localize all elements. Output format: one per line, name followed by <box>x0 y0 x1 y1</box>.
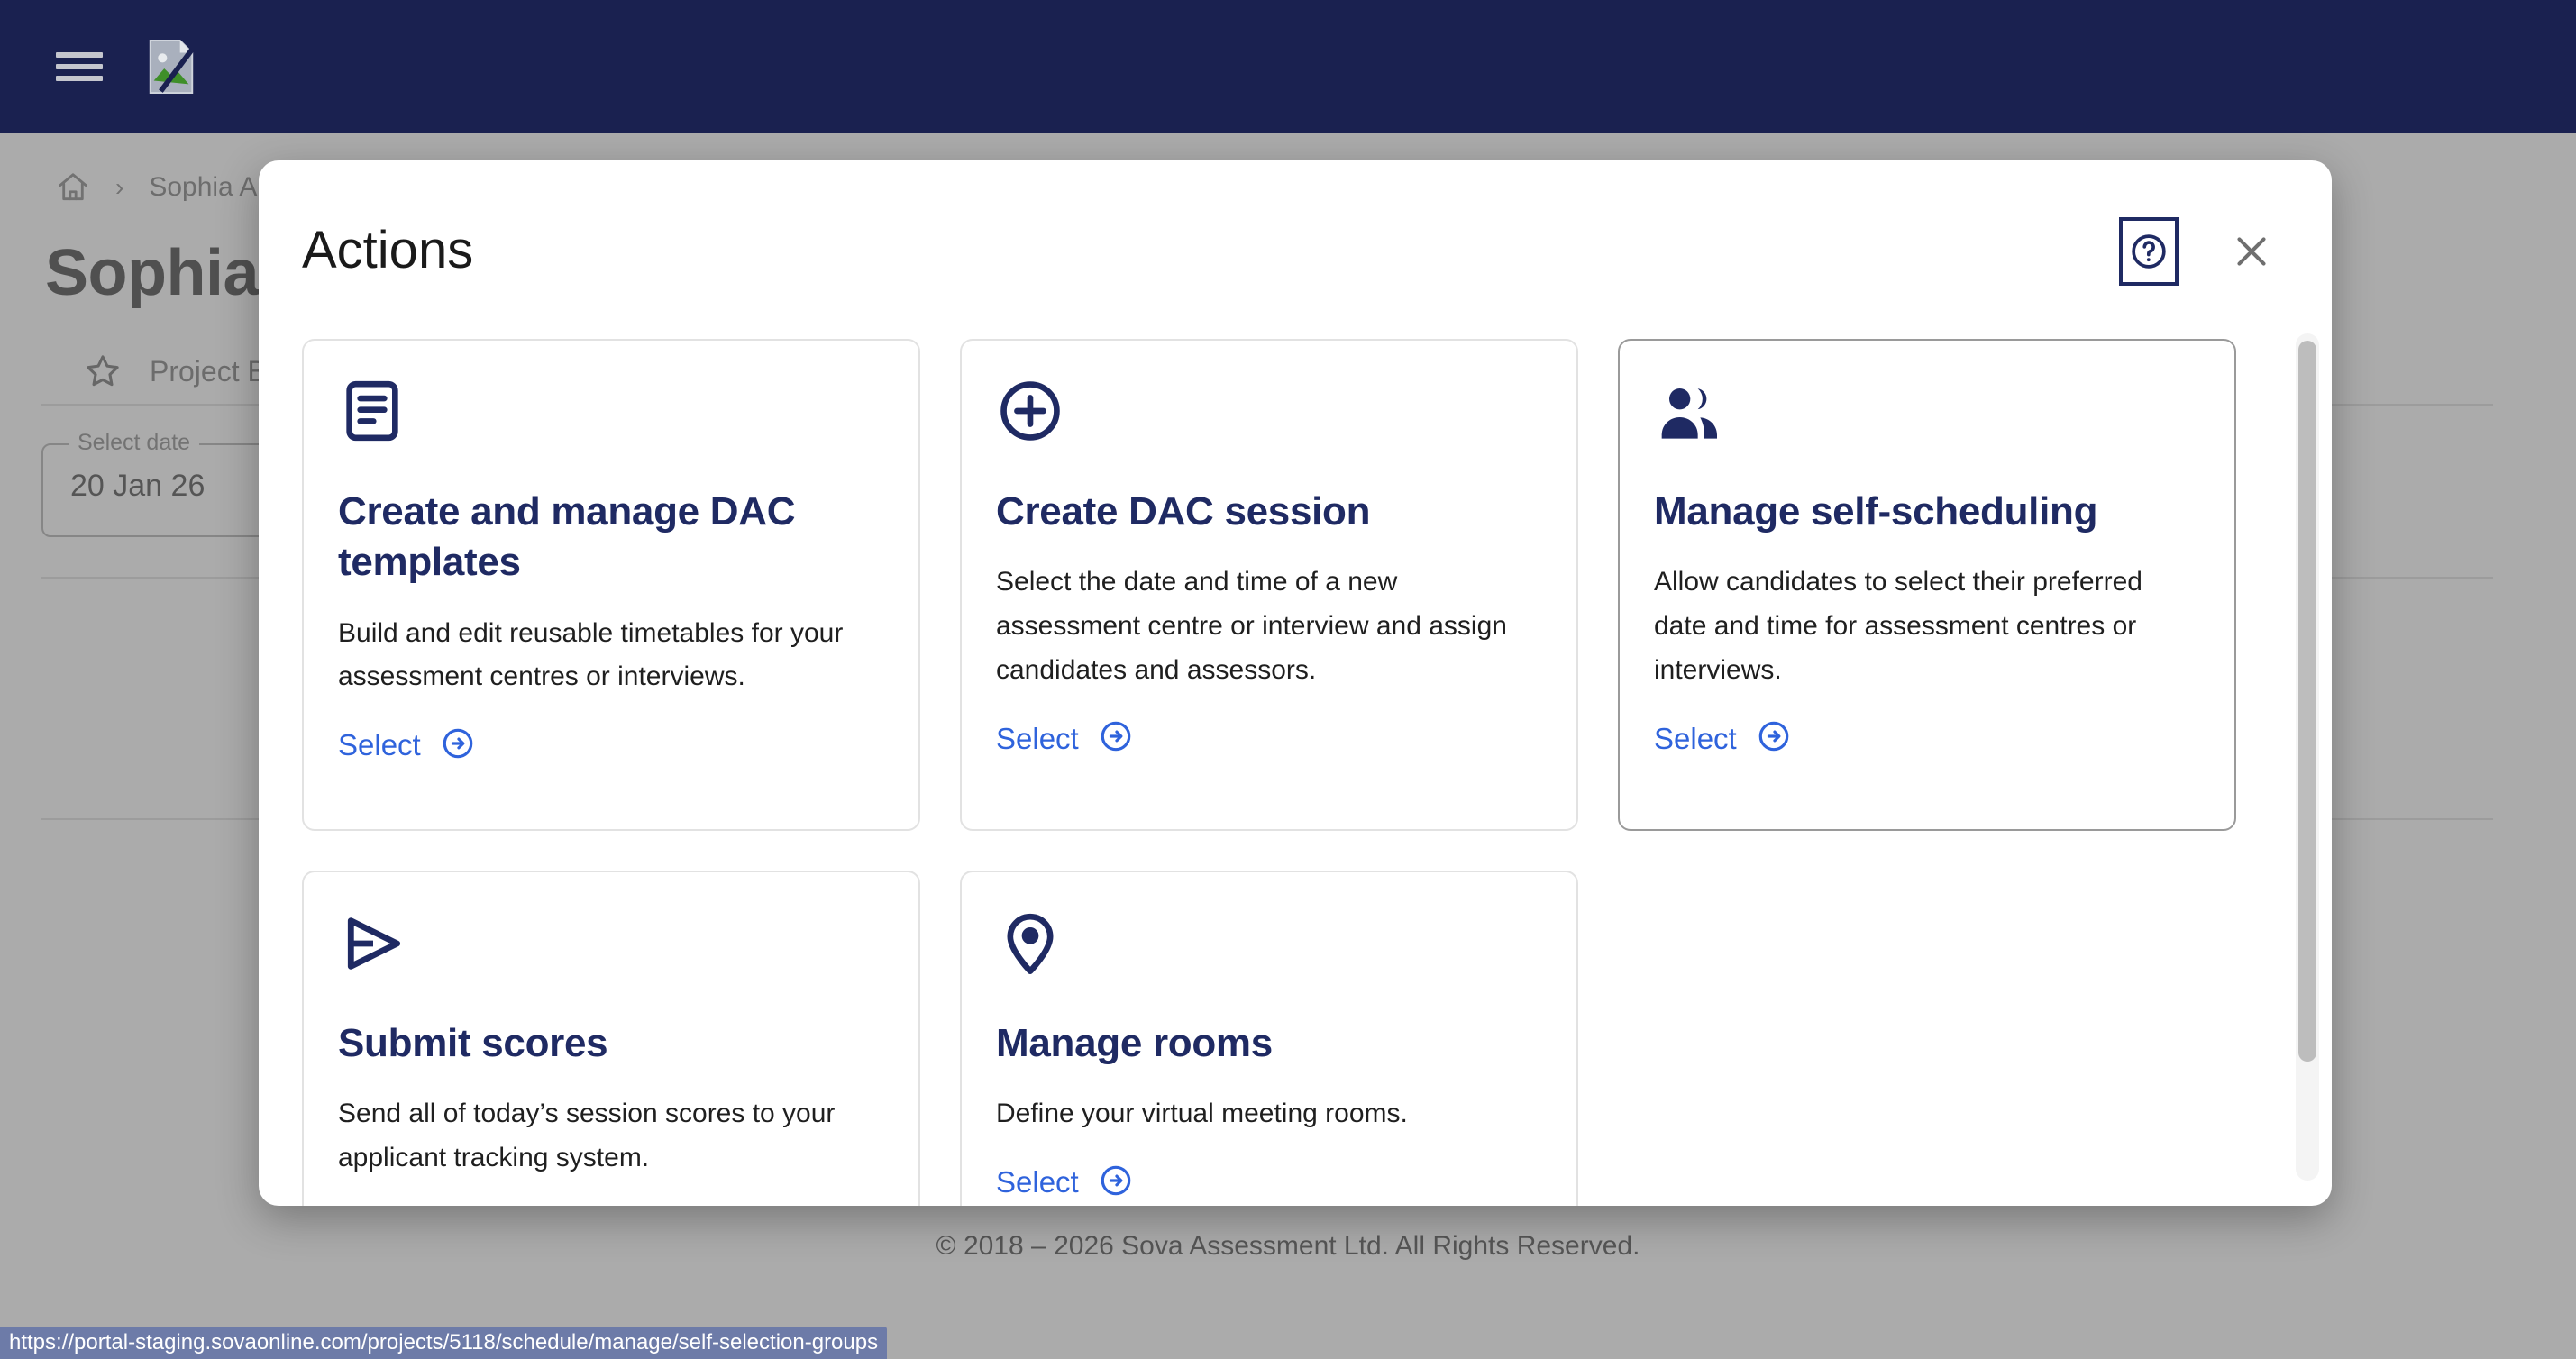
modal-title: Actions <box>302 220 473 280</box>
users-icon <box>1654 377 2200 463</box>
action-card-title: Manage self-scheduling <box>1654 487 2200 537</box>
select-link[interactable]: Select <box>996 1163 1542 1202</box>
broken-image-icon[interactable] <box>146 39 196 95</box>
hamburger-menu-icon[interactable] <box>56 49 103 85</box>
select-link-label: Select <box>996 1165 1079 1199</box>
select-link-label: Select <box>338 728 421 762</box>
modal-scrollbar-thumb[interactable] <box>2298 341 2316 1062</box>
modal-scrollbar[interactable] <box>2296 333 2319 1181</box>
action-card-manage-rooms[interactable]: Manage rooms Define your virtual meeting… <box>960 871 1578 1206</box>
select-link[interactable]: Select <box>996 719 1542 758</box>
select-link[interactable]: Select <box>338 726 884 765</box>
action-card-description: Select the date and time of a new assess… <box>996 561 1542 692</box>
select-link-label: Select <box>996 722 1079 756</box>
action-card-description: Send all of today’s session scores to yo… <box>338 1092 884 1180</box>
arrow-right-circle-icon <box>1757 719 1791 758</box>
arrow-right-circle-icon <box>1099 1163 1133 1202</box>
action-card-submit-scores[interactable]: Submit scores Send all of today’s sessio… <box>302 871 920 1206</box>
status-bar-url: https://portal-staging.sovaonline.com/pr… <box>0 1327 887 1359</box>
action-card-title: Create and manage DAC templates <box>338 487 884 588</box>
action-card-manage-self-scheduling[interactable]: Manage self-scheduling Allow candidates … <box>1618 339 2236 831</box>
action-card-title: Manage rooms <box>996 1018 1542 1069</box>
send-icon <box>338 908 884 995</box>
action-card-create-manage-dac-templates[interactable]: Create and manage DAC templates Build an… <box>302 339 920 831</box>
modal-header: Actions <box>259 160 2332 339</box>
action-card-description: Define your virtual meeting rooms. <box>996 1092 1542 1136</box>
arrow-right-circle-icon <box>441 726 475 765</box>
action-card-description: Allow candidates to select their preferr… <box>1654 561 2200 692</box>
actions-card-grid: Create and manage DAC templates Build an… <box>302 339 2288 1206</box>
select-link-label: Select <box>1654 722 1737 756</box>
browser-viewport: › Sophia A Sophia Project Bu Select date… <box>0 0 2576 1359</box>
action-card-title: Create DAC session <box>996 487 1542 537</box>
action-card-create-dac-session[interactable]: Create DAC session Select the date and t… <box>960 339 1578 831</box>
action-card-title: Submit scores <box>338 1018 884 1069</box>
map-pin-icon <box>996 908 1542 995</box>
plus-circle-icon <box>996 377 1542 463</box>
top-navbar <box>0 0 2576 133</box>
close-icon[interactable] <box>2225 225 2278 278</box>
actions-modal: Actions <box>259 160 2332 1206</box>
action-card-description: Build and edit reusable timetables for y… <box>338 612 884 699</box>
select-link[interactable]: Select <box>1654 719 2200 758</box>
modal-header-actions <box>2119 217 2278 286</box>
modal-body: Create and manage DAC templates Build an… <box>259 339 2332 1206</box>
arrow-right-circle-icon <box>1099 719 1133 758</box>
help-circle-icon[interactable] <box>2119 217 2179 286</box>
document-list-icon <box>338 377 884 463</box>
